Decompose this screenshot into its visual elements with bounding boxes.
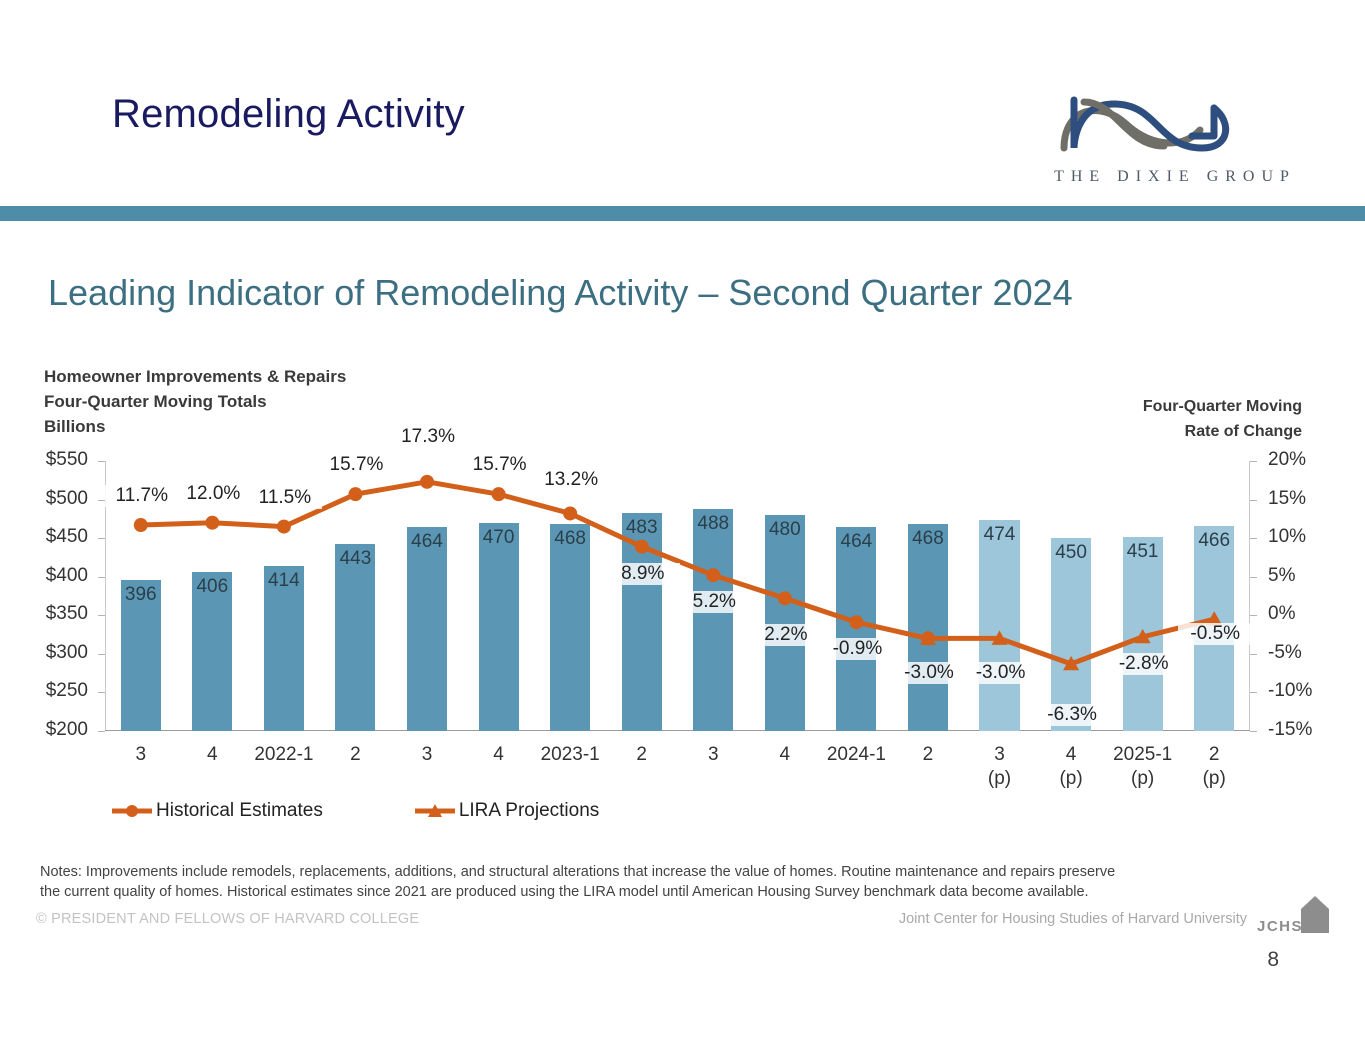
historical-estimates-circle-marker — [277, 520, 291, 534]
left-axis-tick — [98, 461, 105, 462]
left-axis-tick-label: $450 — [46, 526, 88, 548]
left-axis-tick — [98, 731, 105, 732]
right-axis-tick — [1250, 692, 1257, 693]
chart-left-caption: Homeowner Improvements & Repairs Four-Qu… — [44, 364, 346, 439]
x-axis-label: 2(p) — [1178, 743, 1250, 791]
percent-label: 8.9% — [606, 563, 680, 585]
left-axis-tick-label: $250 — [46, 680, 88, 702]
dixie-group-wordmark: THE DIXIE GROUP — [1040, 168, 1310, 186]
percent-label: 15.7% — [320, 454, 394, 476]
legend-label: LIRA Projections — [459, 800, 599, 822]
x-axis-label-main: 2 — [606, 743, 678, 767]
x-axis-label-main: 2 — [1178, 743, 1250, 767]
x-axis-label: 2025-1(p) — [1107, 743, 1179, 791]
percent-label: 15.7% — [463, 454, 537, 476]
historical-estimates-circle-marker — [205, 516, 219, 530]
x-axis-label: 4 — [177, 743, 249, 767]
bar-value-label: 468 — [908, 528, 948, 550]
bar-value-label: 414 — [264, 570, 304, 592]
bar-value-label: 464 — [836, 531, 876, 553]
x-axis-label-main: 2023-1 — [534, 743, 606, 767]
legend-item[interactable]: Historical Estimates — [110, 800, 323, 822]
x-axis-label-sub: (p) — [964, 767, 1036, 791]
bar-value-label: 396 — [121, 584, 161, 606]
bar-value-label: 470 — [479, 527, 519, 549]
x-axis-label-main: 3 — [391, 743, 463, 767]
chart-bar: 443 — [335, 544, 375, 731]
x-axis-label: 2024-1 — [821, 743, 893, 767]
right-axis-tick-label: 15% — [1268, 488, 1306, 510]
x-axis-label-main: 2024-1 — [821, 743, 893, 767]
historical-estimates-circle-marker — [348, 487, 362, 501]
left-axis-tick — [98, 577, 105, 578]
right-axis-tick-label: 20% — [1268, 449, 1306, 471]
caption-line-1: Homeowner Improvements & Repairs — [44, 364, 346, 389]
jchs-credit-text: Joint Center for Housing Studies of Harv… — [899, 911, 1247, 927]
x-axis-label-main: 4 — [1035, 743, 1107, 767]
bar-value-label: 474 — [979, 524, 1019, 546]
percent-label: -6.3% — [1035, 704, 1109, 726]
percent-label: -0.9% — [821, 638, 895, 660]
percent-label: 12.0% — [177, 483, 251, 505]
chart-bar: 470 — [479, 523, 519, 731]
bar-value-label: 483 — [622, 517, 662, 539]
page-title: Remodeling Activity — [112, 92, 465, 137]
x-axis-label-main: 3 — [105, 743, 177, 767]
historical-estimates-circle-marker — [563, 506, 577, 520]
percent-label: -2.8% — [1107, 653, 1181, 675]
percent-label: 13.2% — [534, 469, 608, 491]
x-axis-label: 2 — [892, 743, 964, 767]
jchs-wordmark: JCHS — [1257, 918, 1303, 935]
x-axis-label-main: 4 — [177, 743, 249, 767]
x-axis-label-main: 2022-1 — [248, 743, 320, 767]
right-axis-tick — [1250, 500, 1257, 501]
x-axis-label: 3(p) — [964, 743, 1036, 791]
percent-label: 17.3% — [391, 426, 465, 448]
left-axis-tick-label: $550 — [46, 449, 88, 471]
x-axis-label-main: 2 — [320, 743, 392, 767]
dixie-group-infinity-icon — [1054, 86, 1244, 166]
jchs-logo: JCHS — [1257, 893, 1329, 937]
legend-item[interactable]: LIRA Projections — [413, 800, 599, 822]
header-divider — [0, 206, 1365, 221]
chart-bar: 464 — [407, 527, 447, 731]
left-axis-tick — [98, 538, 105, 539]
chart-bar: 468 — [550, 524, 590, 731]
chart-plot-area: $200$250$300$350$400$450$500$550 -15%-10… — [105, 461, 1250, 731]
right-axis-tick-label: 0% — [1268, 603, 1295, 625]
notes-line-2: the current quality of homes. Historical… — [40, 882, 1310, 902]
bar-value-label: 450 — [1051, 542, 1091, 564]
chart-bar: 474 — [979, 520, 1019, 731]
right-axis-tick-label: -10% — [1268, 680, 1312, 702]
chart-bar: 396 — [121, 580, 161, 731]
chart-bar: 483 — [622, 513, 662, 731]
x-axis-label: 3 — [678, 743, 750, 767]
percent-label: 11.7% — [105, 485, 179, 507]
left-axis-tick — [98, 692, 105, 693]
left-axis-tick-label: $200 — [46, 719, 88, 741]
chart-bar: 406 — [192, 572, 232, 731]
left-axis-tick-label: $400 — [46, 565, 88, 587]
right-axis-tick — [1250, 461, 1257, 462]
chart-bar: 451 — [1123, 537, 1163, 731]
legend-label: Historical Estimates — [156, 800, 323, 822]
x-axis-label: 2 — [606, 743, 678, 767]
x-axis-label-sub: (p) — [1178, 767, 1250, 791]
right-caption-line-1: Four-Quarter Moving — [1143, 394, 1302, 419]
percent-label: -3.0% — [964, 662, 1038, 684]
x-axis-label-main: 3 — [964, 743, 1036, 767]
x-axis-label-main: 2 — [892, 743, 964, 767]
chart-bar: 450 — [1051, 538, 1091, 731]
chart-bar: 480 — [765, 515, 805, 731]
historical-estimates-circle-marker — [420, 475, 434, 489]
historical-estimates-circle-marker — [492, 487, 506, 501]
left-axis-tick-label: $350 — [46, 603, 88, 625]
x-axis-label-sub: (p) — [1035, 767, 1107, 791]
x-axis-label: 3 — [105, 743, 177, 767]
right-axis-tick-label: 5% — [1268, 565, 1295, 587]
chart-bar: 414 — [264, 566, 304, 731]
bar-value-label: 406 — [192, 576, 232, 598]
chart-bar: 468 — [908, 524, 948, 731]
bar-value-label: 451 — [1123, 541, 1163, 563]
right-axis-tick-label: 10% — [1268, 526, 1306, 548]
x-axis-label-main: 3 — [678, 743, 750, 767]
chart-bar: 488 — [693, 509, 733, 731]
legend-marker-triangle-icon — [413, 802, 457, 820]
x-axis-label: 4 — [749, 743, 821, 767]
x-axis-label: 2023-1 — [534, 743, 606, 767]
bar-value-label: 480 — [765, 519, 805, 541]
x-axis-label: 2022-1 — [248, 743, 320, 767]
percent-label: 11.5% — [248, 487, 322, 509]
right-axis-tick — [1250, 538, 1257, 539]
caption-line-2: Four-Quarter Moving Totals — [44, 389, 346, 414]
x-axis-label: 3 — [391, 743, 463, 767]
x-axis-label: 4(p) — [1035, 743, 1107, 791]
percent-label: 5.2% — [678, 591, 752, 613]
legend-marker-circle-icon — [110, 802, 154, 820]
copyright-text: © PRESIDENT AND FELLOWS OF HARVARD COLLE… — [36, 911, 419, 927]
x-axis-label-main: 4 — [463, 743, 535, 767]
right-caption-line-2: Rate of Change — [1143, 419, 1302, 444]
right-axis-tick — [1250, 731, 1257, 732]
x-axis-label-main: 4 — [749, 743, 821, 767]
left-axis-tick — [98, 654, 105, 655]
left-axis-tick — [98, 615, 105, 616]
caption-line-3: Billions — [44, 414, 346, 439]
page-number: 8 — [1267, 948, 1279, 972]
right-axis-tick-label: -5% — [1268, 642, 1302, 664]
percent-label: -0.5% — [1178, 623, 1252, 645]
chart-notes: Notes: Improvements include remodels, re… — [40, 862, 1310, 902]
right-axis-tick — [1250, 577, 1257, 578]
right-axis-tick — [1250, 615, 1257, 616]
historical-estimates-circle-marker — [134, 518, 148, 532]
bar-value-label: 466 — [1194, 530, 1234, 552]
percent-label: 2.2% — [749, 624, 823, 646]
chart-legend: Historical EstimatesLIRA Projections — [110, 800, 599, 822]
x-axis-label: 4 — [463, 743, 535, 767]
x-axis-label-main: 2025-1 — [1107, 743, 1179, 767]
right-axis-line — [1249, 461, 1250, 731]
x-axis-label: 2 — [320, 743, 392, 767]
percent-label: -3.0% — [892, 662, 966, 684]
chart-title: Leading Indicator of Remodeling Activity… — [48, 272, 1073, 314]
notes-line-1: Notes: Improvements include remodels, re… — [40, 862, 1310, 882]
bar-value-label: 464 — [407, 531, 447, 553]
left-axis-tick — [98, 500, 105, 501]
left-axis-tick-label: $500 — [46, 488, 88, 510]
bar-value-label: 488 — [693, 513, 733, 535]
dixie-group-logo: THE DIXIE GROUP — [1040, 86, 1310, 196]
bar-value-label: 468 — [550, 528, 590, 550]
right-axis-tick — [1250, 654, 1257, 655]
right-axis-tick-label: -15% — [1268, 719, 1312, 741]
chart-right-caption: Four-Quarter Moving Rate of Change — [1143, 394, 1302, 444]
chart-bar: 464 — [836, 527, 876, 731]
x-axis-label-sub: (p) — [1107, 767, 1179, 791]
left-axis-tick-label: $300 — [46, 642, 88, 664]
bar-value-label: 443 — [335, 548, 375, 570]
